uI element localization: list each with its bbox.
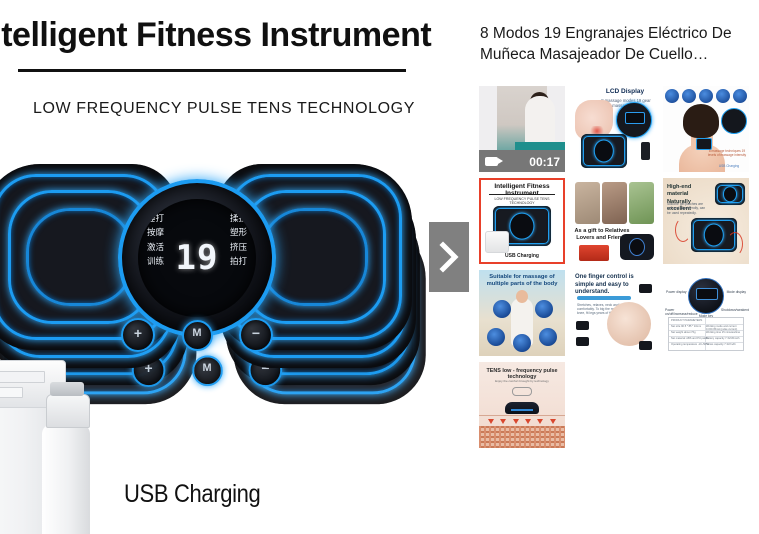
lcd-modes-left: 捶打 按摩 激活 训练 <box>147 215 164 267</box>
massager-chip <box>576 321 589 330</box>
thumbnail-gift[interactable]: As a gift to Relatives Lovers and Friend… <box>571 178 657 264</box>
remote-control <box>641 142 650 160</box>
pulse-arrow-icon <box>488 419 494 424</box>
muscle-fiber-mesh <box>479 426 565 448</box>
skin-surface-line <box>479 415 565 416</box>
massager-chip <box>639 284 652 293</box>
micro-usb-tip <box>50 382 84 396</box>
mode-icon <box>716 89 730 103</box>
thumbnail-tens-technology[interactable]: TENS low - frequency pulse technology En… <box>479 362 565 448</box>
video-duration: 00:17 <box>529 155 560 169</box>
mode-label: 按摩 <box>147 229 164 238</box>
accent-bar <box>577 296 631 300</box>
table-cell: Net size 90.5 * 85 * 10mm <box>671 325 701 328</box>
mode-label: 训练 <box>147 258 164 267</box>
massager-mini <box>715 183 745 205</box>
pulse-arrow-icon <box>537 419 543 424</box>
photo-couple <box>602 182 627 224</box>
lcd-screen: 捶打 按摩 激活 训练 揉捏 塑形 挤压 拍打 19 <box>138 199 256 317</box>
mode-icon <box>699 89 713 103</box>
neck-closeup <box>607 302 651 346</box>
table-cell: Working time 15 minutes/time <box>706 331 740 334</box>
mode-label: 激活 <box>147 244 164 253</box>
thumb-caption: 8 massage techniques 19 levels of massag… <box>707 150 747 158</box>
decrease-button[interactable]: − <box>239 318 273 352</box>
thumb-footnote: USB Charging <box>481 253 563 259</box>
usb-cable-mini <box>485 231 509 253</box>
mode-label: 捶打 <box>147 215 164 224</box>
thumbnail-body-parts[interactable]: Suitable for massage of multiple parts o… <box>479 270 565 356</box>
table-cell: Net weight about 76g <box>671 331 696 334</box>
table-cell: Operating temperature -10~50°C <box>671 343 709 346</box>
hero-title: Intelligent Fitness Instrument <box>0 16 470 55</box>
massager-cross-section <box>505 402 539 414</box>
video-camera-icon <box>485 157 498 166</box>
hero-subtitle: LOW FREQUENCY PULSE TENS TECHNOLOGY <box>24 100 424 118</box>
thumb-footnote: USB Charging <box>711 165 747 169</box>
product-details-panel: 8 Modos 19 Engranajes Eléctrico De Muñec… <box>470 0 759 534</box>
massager-mini <box>620 234 654 260</box>
param-label: Power on/off/increase/reduce <box>665 308 691 316</box>
param-label: Mode display <box>727 290 746 294</box>
head-illustration <box>683 104 719 138</box>
hero-divider <box>18 69 406 72</box>
massager-chip <box>639 341 652 350</box>
table-cell: Net material: ABS and PU patch <box>671 337 708 340</box>
table-cell: Battery capacity 7.3V/20mAh <box>706 337 739 340</box>
thumb-heading: LCD Display <box>597 88 653 95</box>
photo-elderly <box>575 182 600 224</box>
param-label: Power display <box>666 290 687 294</box>
gift-boxes <box>579 245 609 261</box>
thumb-body-text: Silicone gel patches are soft and skin-f… <box>667 202 709 215</box>
thumb-subtext: LOW FREQUENCY PULSE TENS TECHNOLOGY <box>485 197 559 205</box>
parameters-table: PRODUCT PARAMETERS Net size 90.5 * 85 * … <box>668 317 744 351</box>
device-zoom-circle <box>721 108 747 134</box>
thumb-divider <box>489 194 555 195</box>
pulse-arrow-icon <box>500 419 506 424</box>
device-puck <box>688 278 724 314</box>
massage-point <box>487 328 505 346</box>
micro-usb-cord <box>42 424 90 534</box>
pulse-wave-icon <box>727 232 743 256</box>
micro-usb-plug <box>46 394 90 428</box>
wing-ring-inner <box>260 208 368 306</box>
lcd-zoom-circle <box>616 102 652 138</box>
thumb-subtext: Enjoy the comfort brought by technology <box>482 379 562 383</box>
thumbnail-gallery: 00:17 LCD Display 8 massage modes 19 gea… <box>479 86 759 448</box>
lcd-gear-value: 19 <box>176 238 219 278</box>
massage-point <box>493 300 511 318</box>
param-label: Shutdown/weakening <box>721 308 747 312</box>
mode-icon <box>665 89 679 103</box>
thumb-heading: Suitable for massage of multiple parts o… <box>482 274 562 288</box>
massager-patch <box>696 138 712 150</box>
pulse-arrows <box>479 419 565 425</box>
mode-icon <box>682 89 696 103</box>
usb-charging-caption: USB Charging <box>124 480 260 509</box>
thumbnail-lcd-display[interactable]: LCD Display 8 massage modes 19 gear mass… <box>571 86 657 172</box>
patch-outline <box>512 387 532 396</box>
table-cell: Series capacity 7.3V/mAh <box>706 343 736 346</box>
thumbnail-neck-use[interactable]: 8 massage techniques 19 levels of massag… <box>663 86 749 172</box>
thumbnail-one-finger[interactable]: One finger control is simple and easy to… <box>571 270 657 356</box>
mode-button[interactable]: M <box>182 320 213 351</box>
massager-mini <box>581 134 627 168</box>
device-button-row-primary: + M − <box>121 318 273 352</box>
increase-button[interactable]: + <box>121 318 155 352</box>
mode-label: 揉捏 <box>230 215 247 224</box>
thumbnail-material[interactable]: High-end material Naturally excellent Si… <box>663 178 749 264</box>
massage-point <box>539 328 557 346</box>
mode-label: 塑形 <box>230 229 247 238</box>
device-control-hub: 捶打 按摩 激活 训练 揉捏 塑形 挤压 拍打 19 <box>118 179 276 337</box>
main-product-image[interactable]: Intelligent Fitness Instrument LOW FREQU… <box>0 0 470 534</box>
massager-chip <box>576 337 589 346</box>
mode-icon <box>733 89 747 103</box>
massage-point <box>535 300 553 318</box>
pulse-wave-icon <box>675 218 691 242</box>
product-title: 8 Modos 19 Engranajes Eléctrico De Muñec… <box>480 24 756 65</box>
thumbnail-hero-poster[interactable]: Intelligent Fitness Instrument LOW FREQU… <box>479 178 565 264</box>
pulse-arrow-icon <box>513 419 519 424</box>
body-head <box>516 290 528 303</box>
thumbnail-parameters[interactable]: Power display Mode display Power on/off/… <box>663 270 749 356</box>
next-image-button[interactable] <box>429 222 469 292</box>
massager-device-front: 捶打 按摩 激活 训练 揉捏 塑形 挤压 拍打 19 + M <box>0 160 412 356</box>
photo-friends <box>629 182 654 224</box>
mode-icon-row <box>665 89 747 105</box>
thumbnail-video[interactable]: 00:17 <box>479 86 565 172</box>
lcd-modes-right: 揉捏 塑形 挤压 拍打 <box>230 215 247 267</box>
pulse-arrow-icon <box>525 419 531 424</box>
chevron-right-icon <box>438 241 460 273</box>
massage-point <box>513 334 531 352</box>
mode-label: 挤压 <box>230 244 247 253</box>
pulse-arrow-icon <box>550 419 556 424</box>
table-title: PRODUCT PARAMETERS <box>671 319 702 322</box>
mode-label: 拍打 <box>230 258 247 267</box>
